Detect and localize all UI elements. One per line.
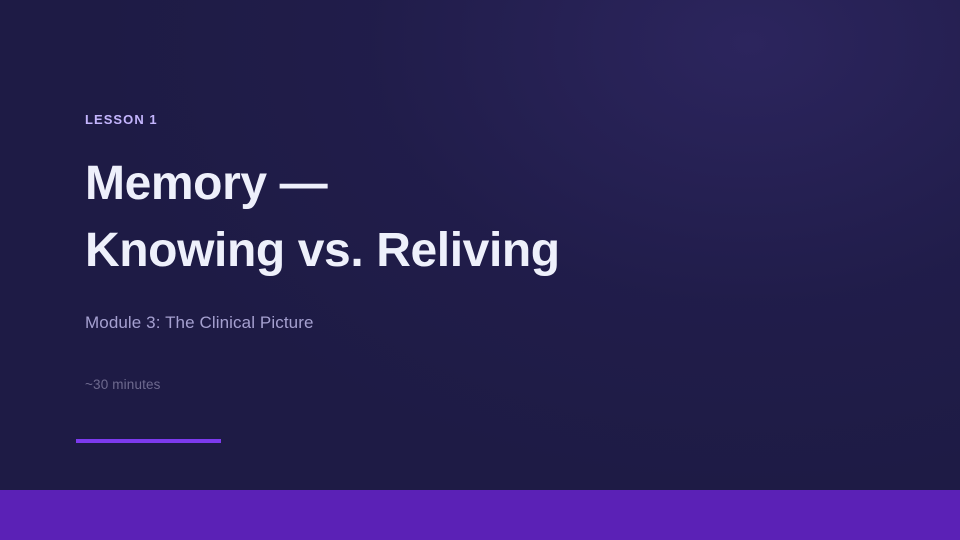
page-title-line-2: Knowing vs. Reliving xyxy=(85,217,885,284)
bottom-accent-bar xyxy=(0,490,960,540)
page-title: Memory — Knowing vs. Reliving xyxy=(85,150,885,284)
accent-rule xyxy=(76,439,221,443)
page-title-line-1: Memory — xyxy=(85,150,885,217)
module-subtitle: Module 3: The Clinical Picture xyxy=(85,311,314,335)
duration-label: ~30 minutes xyxy=(85,376,161,394)
lesson-eyebrow-label: LESSON 1 xyxy=(85,111,158,129)
title-slide: LESSON 1 Memory — Knowing vs. Reliving M… xyxy=(0,0,960,540)
